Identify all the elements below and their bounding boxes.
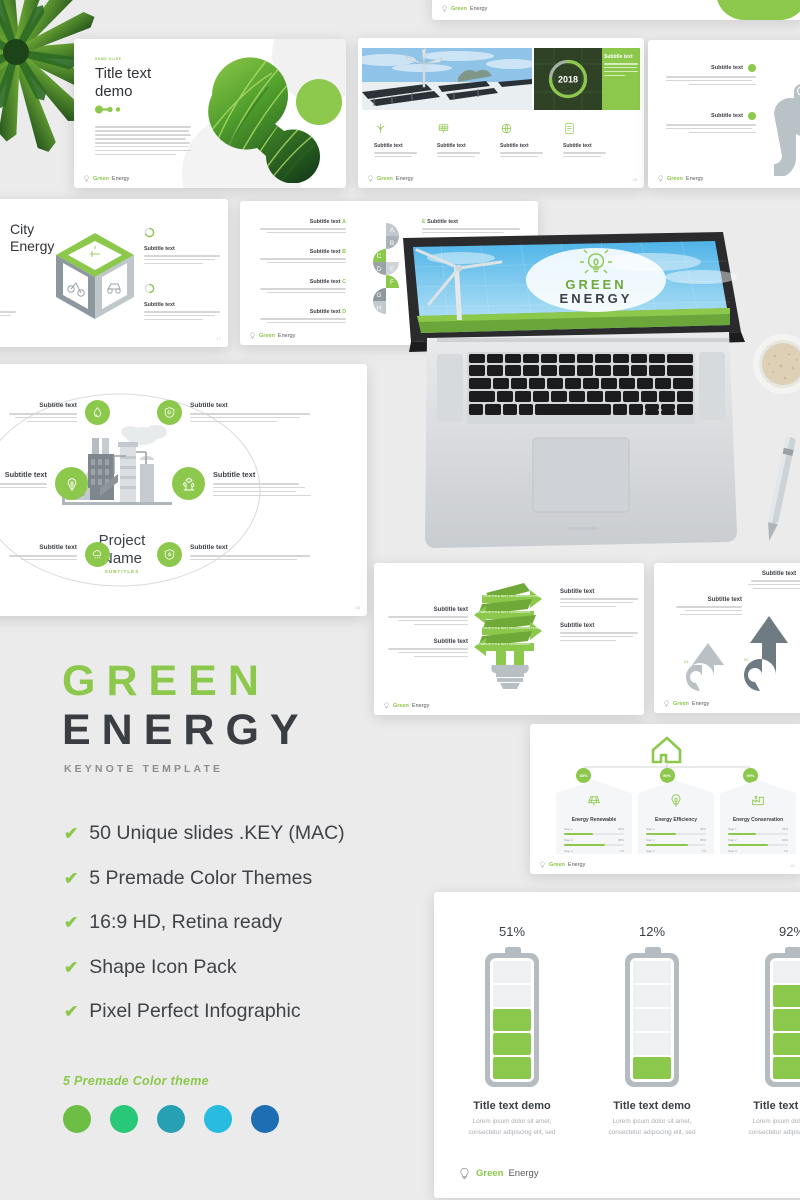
factory-item-title: Subtitle text (190, 402, 357, 409)
bar-label: Step 1 (728, 827, 737, 831)
hand-graphic: Project Name SUBTITLE (764, 54, 800, 176)
svg-text:YOUR TITLE TEXT INFORMATION: YOUR TITLE TEXT INFORMATION (482, 610, 530, 614)
bulb-icon (83, 175, 90, 182)
arrow-item-title: Subtitle text (746, 571, 800, 577)
wind-turbine-icon (374, 122, 387, 135)
feature-column[interactable]: Subtitle text (500, 122, 543, 160)
svg-text:C: C (377, 253, 382, 260)
check-icon: ✔ (64, 825, 78, 842)
year-feature-columns: Subtitle text Subtitle text Subtitle tex… (374, 122, 606, 160)
slide-footer-logo: Green Energy (539, 861, 585, 868)
svg-text:YOUR TITLE TEXT INFORMATION: YOUR TITLE TEXT INFORMATION (482, 626, 530, 630)
progress-ring-icon (144, 283, 155, 294)
arrow-item[interactable]: Subtitle text (746, 571, 800, 589)
house-node: 50% (660, 768, 675, 783)
slide-title-demo[interactable]: SOME SLIDE Title text demo Green Energy (74, 39, 346, 188)
house-bar-row: Step 3 7% (564, 849, 624, 857)
city-item[interactable]: Subtitle text (144, 225, 220, 267)
factory-item-title: Subtitle text (190, 544, 357, 551)
slide-eyebrow: SOME SLIDE (95, 57, 191, 61)
hand-item-title: Subtitle text (711, 65, 743, 71)
battery-icon (479, 947, 545, 1087)
solar-panel-icon (437, 122, 450, 135)
feature-title: Subtitle text (374, 143, 417, 149)
city-item[interactable]: Subtitle text (0, 281, 16, 323)
letters-item-title: Subtitle text (310, 279, 341, 285)
hero-title-dark: ENERGY (62, 706, 482, 754)
brand-green-word: Green (377, 176, 393, 182)
battery-item[interactable]: 92% Title text demo Lorem ipsum dolor si… (744, 924, 800, 1139)
bulb-item-title: Subtitle text (560, 623, 638, 629)
feature-item: ✔ 16:9 HD, Retina ready (64, 911, 484, 934)
coffee-cup (745, 330, 800, 398)
slide-factory-project[interactable]: Project Name SUBTITLES Subtitle text Sub… (0, 364, 367, 616)
factory-center-sub: SUBTITLES (60, 569, 184, 574)
color-swatch[interactable] (157, 1105, 185, 1133)
brand-green-word: Green (476, 1168, 503, 1179)
brand-dark-word: Energy (278, 333, 295, 339)
house-card[interactable]: Energy Renewable Step 1 25% Step 2 68% (556, 780, 632, 854)
battery-percent: 12% (604, 924, 700, 939)
factory-right-item[interactable]: Subtitle text (172, 467, 362, 500)
poster-stage: Green Energy (0, 0, 800, 1200)
bar-label: Step 2 (646, 838, 655, 842)
brand-dark-word: Energy (396, 176, 413, 182)
slide-page-number: 41 (791, 863, 795, 868)
house-node: 90% (743, 768, 758, 783)
house-bar-row: Step 3 7% (728, 849, 788, 857)
color-swatch[interactable] (204, 1105, 232, 1133)
slide-heading-line1: Title text (95, 65, 191, 83)
svg-text:G: G (376, 292, 381, 299)
bar-value: 25% (782, 827, 788, 831)
isometric-cube-graphic (52, 231, 138, 323)
slide-body-paragraph (95, 126, 191, 155)
check-icon: ✔ (64, 870, 78, 887)
bullet-dot-icon (748, 64, 756, 72)
water-drop-icon (85, 400, 110, 425)
grass-molecule-graphic (202, 47, 344, 183)
slide-city-energy[interactable]: City Energy Sub (0, 199, 228, 347)
letters-item-letter: A (342, 219, 346, 225)
slide-footer-logo: Green Energy (657, 175, 703, 182)
battery-row: 51% Title text demo Lorem ipsum dolor si… (464, 924, 800, 1139)
hand-item-title: Subtitle text (711, 113, 743, 119)
feature-label: 16:9 HD, Retina ready (89, 911, 282, 934)
feature-item: ✔ 5 Premade Color Themes (64, 867, 484, 890)
slide-year-2018[interactable]: 2018 Subtitle text (358, 38, 644, 188)
battery-body-line1: Lorem ipsum dolor sit amet, (464, 1117, 560, 1128)
house-card[interactable]: Energy Efficiency Step 1 35% Step 2 68% (638, 780, 714, 854)
feature-item: ✔ Shape Icon Pack (64, 956, 484, 979)
bulb-right-item[interactable]: Subtitle text (560, 589, 638, 610)
hero-title-green: GREEN (62, 660, 482, 704)
factory-item-title: Subtitle text (0, 544, 77, 551)
bulb-icon (657, 175, 664, 182)
pen (757, 430, 800, 550)
svg-text:1 STEP: 1 STEP (475, 642, 485, 646)
brand-green-word: Green (667, 176, 683, 182)
bulb-icon (663, 700, 670, 707)
feature-label: Shape Icon Pack (89, 956, 236, 979)
bulb-icon (441, 5, 448, 12)
document-icon (563, 122, 576, 135)
house-bar-row: Step 1 25% (564, 827, 624, 835)
letters-left-item[interactable]: Subtitle text A (260, 219, 346, 236)
laptop-logo-line2: ENERGY (560, 291, 633, 306)
svg-text:01: 01 (684, 659, 689, 664)
bar-value: 25% (618, 827, 624, 831)
house-connector-graphic (564, 734, 770, 770)
bullet-dot-icon (748, 112, 756, 120)
house-bar-row: Step 3 7% (646, 849, 706, 857)
letters-left-item[interactable]: Subtitle text B (260, 249, 346, 266)
house-bar-row: Step 2 68% (646, 838, 706, 846)
brand-dark-word: Energy (112, 176, 129, 182)
house-bar-row: Step 1 35% (646, 827, 706, 835)
svg-text:F: F (390, 279, 394, 286)
brand-green-word: Green (259, 333, 275, 339)
slide-partial-top[interactable]: Green Energy (432, 0, 800, 20)
letters-item-letter: B (342, 249, 346, 255)
feature-column[interactable]: Subtitle text (374, 122, 417, 160)
feature-title: Subtitle text (500, 143, 543, 149)
brand-dark-word: Energy (508, 1168, 538, 1179)
factory-left-item[interactable]: Subtitle text (0, 400, 110, 425)
slide-footer-logo: Green Energy (458, 1167, 539, 1180)
slide-batteries[interactable]: 51% Title text demo Lorem ipsum dolor si… (434, 892, 800, 1198)
slide-footer-logo: Green Energy (249, 332, 295, 339)
svg-text:4 STEP: 4 STEP (530, 594, 540, 598)
bulb-icon (367, 175, 374, 182)
battery-icon (619, 947, 685, 1087)
check-icon: ✔ (64, 959, 78, 976)
svg-text:E: E (390, 266, 395, 273)
battery-body-line2: consectetur adipiscing elit, sed (744, 1128, 800, 1139)
svg-text:B: B (390, 240, 394, 247)
feature-title: Subtitle text (563, 143, 606, 149)
brand-dark-word: Energy (470, 6, 487, 12)
bulb-item-title: Subtitle text (560, 589, 638, 595)
bar-label: Step 1 (646, 827, 655, 831)
house-bar-row: Step 1 25% (728, 827, 788, 835)
battery-title: Title text demo (464, 1100, 560, 1112)
battery-body-line1: Lorem ipsum dolor sit amet, (744, 1117, 800, 1128)
upward-arrows-graphic: 01 02 03 (670, 599, 800, 695)
bar-value: 35% (700, 827, 706, 831)
hand-item[interactable]: Subtitle text (666, 64, 756, 88)
color-swatch-row (63, 1105, 279, 1133)
hero-title: GREEN ENERGY KEYNOTE TEMPLATE (62, 660, 482, 775)
bar-label: Step 2 (564, 838, 573, 842)
slide-footer-logo: Green Energy (441, 5, 487, 12)
year-panel-body (604, 63, 638, 76)
bulb-icon (249, 332, 256, 339)
brand-green-word: Green (451, 6, 467, 12)
progress-ring-icon (144, 227, 155, 238)
molecule-accent-icon (95, 105, 121, 114)
slide-footer-logo: Green Energy (83, 175, 129, 182)
color-theme-section: 5 Premade Color theme (63, 1074, 279, 1133)
factory-left-item[interactable]: Subtitle text (0, 467, 88, 500)
feature-label: 50 Unique slides .KEY (MAC) (89, 822, 344, 845)
svg-text:YOUR TITLE TEXT INFORMATION: YOUR TITLE TEXT INFORMATION (482, 594, 530, 598)
city-item-title: Subtitle text (144, 302, 220, 308)
factory-item-title: Subtitle text (213, 470, 362, 479)
slide-footer-logo: Green Energy (367, 175, 413, 182)
brand-dark-word: Energy (686, 176, 703, 182)
leaf-shield-icon (157, 400, 182, 425)
bar-value: 7% (620, 849, 624, 853)
bar-value: 68% (700, 838, 706, 842)
slide-heading-line2: demo (95, 83, 191, 101)
laptop-mockup: GREEN ENERGY (399, 214, 764, 559)
bar-label: Step 1 (564, 827, 573, 831)
brand-dark-word: Energy (692, 701, 709, 707)
year-panel-subtitle: Subtitle text (604, 54, 638, 60)
bulb-icon (458, 1167, 471, 1180)
battery-percent: 92% (744, 924, 800, 939)
slide-page-number: 17 (217, 336, 221, 341)
svg-text:3 STEP: 3 STEP (475, 610, 485, 614)
slide-house-hierarchy[interactable]: 30% 50% 90% Energy Renewable Step 1 25% (530, 724, 800, 874)
house-bar-row: Step 2 64% (728, 838, 788, 846)
feature-label: 5 Premade Color Themes (89, 867, 312, 890)
brand-green-word: Green (549, 862, 565, 868)
check-icon: ✔ (64, 1003, 78, 1020)
battery-body-line2: consectetur adipiscing elit, sed (604, 1128, 700, 1139)
svg-text:02: 02 (744, 657, 749, 662)
city-item-title: Subtitle text (144, 246, 220, 252)
letters-left-item[interactable]: Subtitle text D (260, 309, 346, 326)
battery-title: Title text demo (604, 1100, 700, 1112)
bar-label: Step 3 (564, 849, 573, 853)
brand-dark-word: Energy (568, 862, 585, 868)
eco-bulb-icon (55, 467, 88, 500)
city-item[interactable]: Subtitle text (144, 281, 220, 323)
letters-left-item[interactable]: Subtitle text C (260, 279, 346, 296)
feature-item: ✔ Pixel Perfect Infographic (64, 1000, 484, 1023)
factory-item-title: Subtitle text (0, 470, 47, 479)
letters-item-title: Subtitle text (310, 249, 341, 255)
color-swatch[interactable] (251, 1105, 279, 1133)
factory-left-item[interactable]: Subtitle text (0, 542, 110, 567)
slide-page-number: 25 (633, 177, 637, 182)
bar-label: Step 3 (728, 849, 737, 853)
globe-icon (500, 122, 513, 135)
plant-research-icon (172, 467, 205, 500)
check-icon: ✔ (64, 914, 78, 931)
laptop-logo-line1: GREEN (565, 277, 626, 292)
feature-label: Pixel Perfect Infographic (89, 1000, 300, 1023)
feature-column[interactable]: Subtitle text (437, 122, 480, 160)
color-theme-label: 5 Premade Color theme (63, 1074, 279, 1088)
svg-text:A: A (390, 227, 395, 234)
letters-item-title: Subtitle text (310, 219, 341, 225)
hand-item[interactable]: Subtitle text (666, 112, 756, 136)
brand-green-word: Green (93, 176, 109, 182)
feature-list: ✔ 50 Unique slides .KEY (MAC) ✔ 5 Premad… (64, 822, 484, 1045)
solar-panel-icon (586, 792, 602, 808)
svg-text:YOUR TITLE TEXT INFORMATION: YOUR TITLE TEXT INFORMATION (482, 642, 530, 646)
bar-label: Step 2 (728, 838, 737, 842)
bar-value: 68% (618, 838, 624, 842)
factory-right-item[interactable]: Subtitle text (157, 400, 357, 425)
green-factory-icon (750, 792, 766, 808)
factory-right-item[interactable]: Subtitle text (157, 542, 357, 567)
battery-item[interactable]: 12% Title text demo Lorem ipsum dolor si… (604, 924, 700, 1139)
color-swatch[interactable] (110, 1105, 138, 1133)
house-node: 30% (576, 768, 591, 783)
bar-value: 64% (782, 838, 788, 842)
color-swatch[interactable] (63, 1105, 91, 1133)
slide-hand-project[interactable]: Subtitle text Subtitle text (648, 40, 800, 188)
feature-column[interactable]: Subtitle text (563, 122, 606, 160)
feature-title: Subtitle text (437, 143, 480, 149)
svg-text:H: H (377, 305, 382, 312)
svg-text:2 STEP: 2 STEP (530, 626, 540, 630)
battery-body-line1: Lorem ipsum dolor sit amet, (604, 1117, 700, 1128)
battery-icon (759, 947, 800, 1087)
solar-farm-photo (362, 48, 532, 110)
city-item-title: Subtitle text (0, 302, 16, 308)
slide-footer-logo: Green Energy (663, 700, 709, 707)
eco-bulb-icon (668, 792, 684, 808)
feature-item: ✔ 50 Unique slides .KEY (MAC) (64, 822, 484, 845)
letters-item-letter: C (342, 279, 346, 285)
bar-value: 7% (784, 849, 788, 853)
letters-item-letter: D (342, 309, 346, 315)
bulb-right-item[interactable]: Subtitle text (560, 623, 638, 644)
bar-value: 7% (702, 849, 706, 853)
recycle-shield-icon (157, 542, 182, 567)
bar-label: Step 3 (646, 849, 655, 853)
hero-subtitle: KEYNOTE TEMPLATE (64, 763, 482, 775)
slide-page-number: 38 (356, 605, 360, 610)
house-node-row: 30% 50% 90% (576, 768, 758, 783)
house-card[interactable]: Energy Conservation Step 1 25% Step 2 64… (720, 780, 796, 854)
battery-body-line2: consectetur adipiscing elit, sed (464, 1128, 560, 1139)
slide-arrows-up[interactable]: Subtitle text Subtitle text Subtitle tex… (654, 563, 800, 713)
letters-item-title: Subtitle text (310, 309, 341, 315)
factory-item-title: Subtitle text (0, 402, 77, 409)
svg-text:D: D (377, 266, 382, 273)
bulb-icon (539, 861, 546, 868)
brand-green-word: Green (673, 701, 689, 707)
rain-cloud-icon (85, 542, 110, 567)
house-bar-row: Step 2 68% (564, 838, 624, 846)
battery-title: Title text demo (744, 1100, 800, 1112)
